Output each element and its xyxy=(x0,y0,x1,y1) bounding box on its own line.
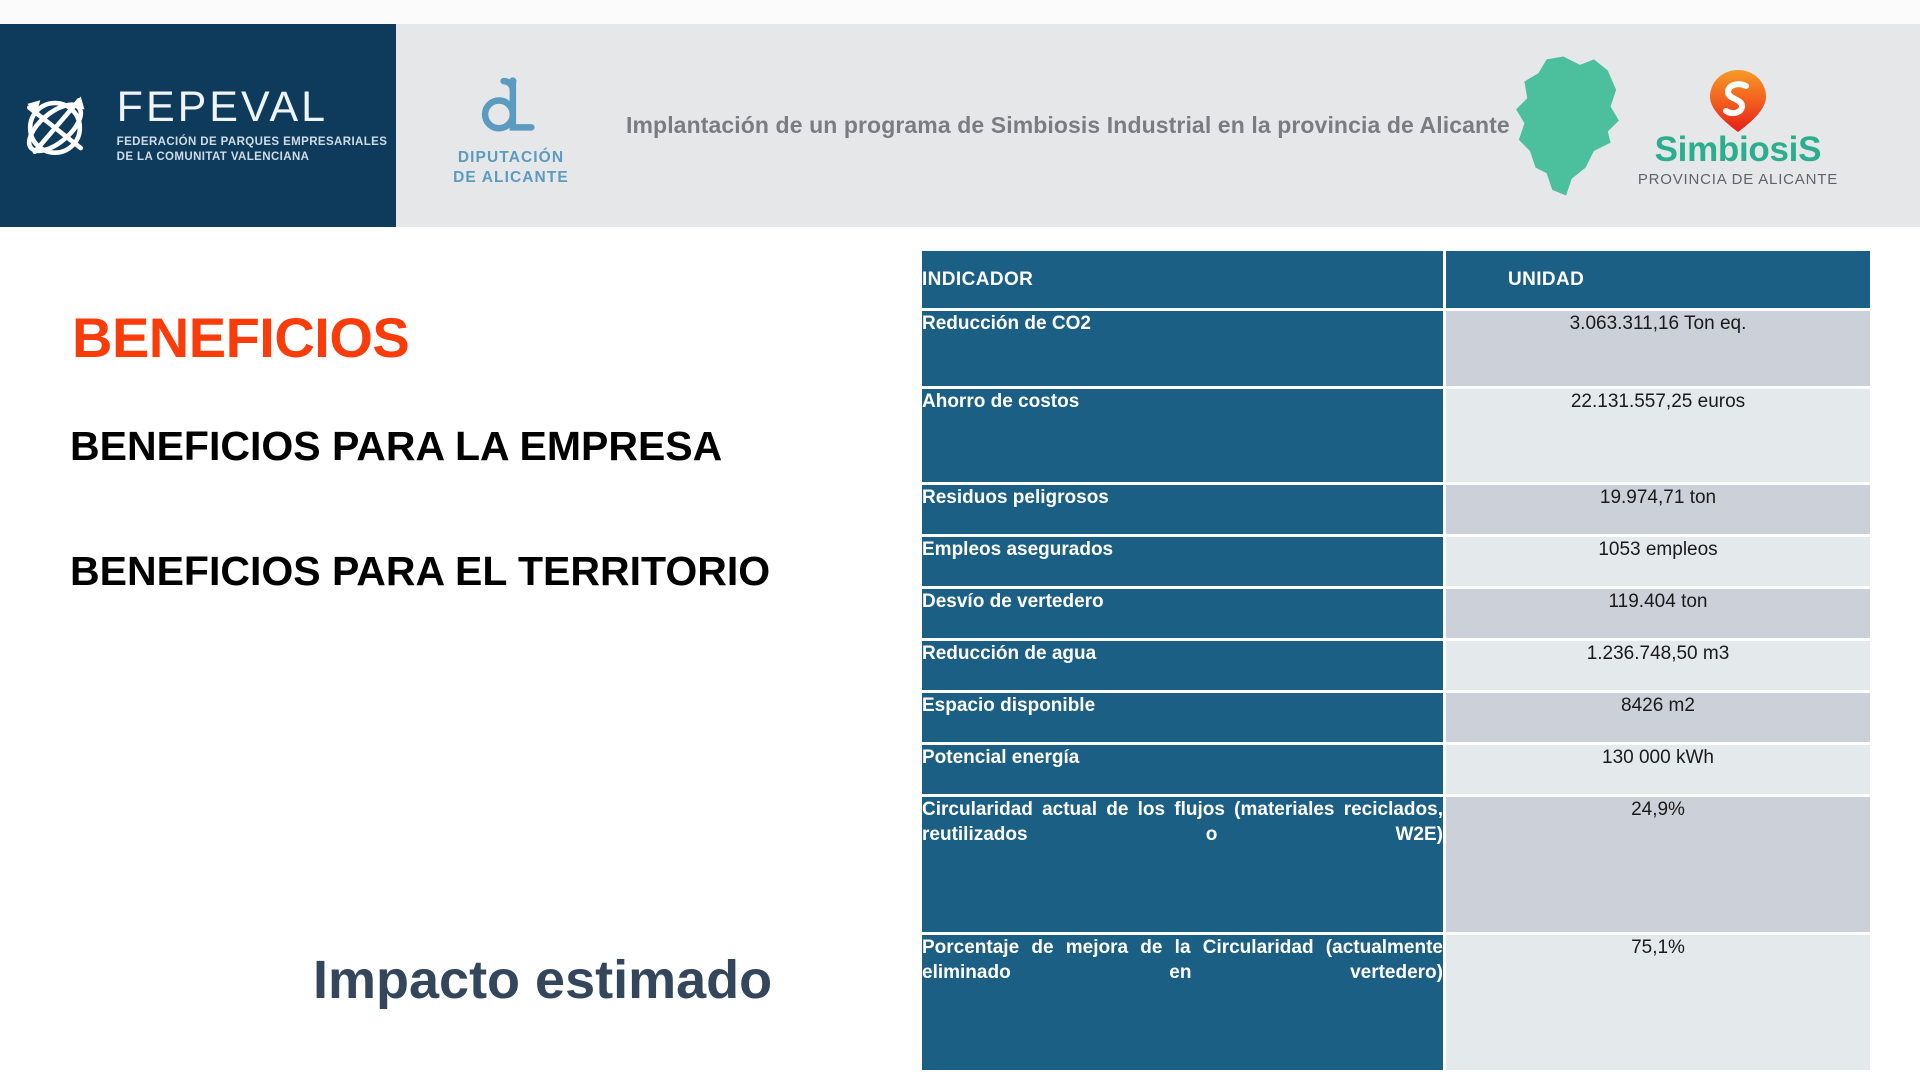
indicator-cell: Empleos asegurados xyxy=(922,537,1446,589)
location-pin-s-icon xyxy=(1707,68,1769,134)
indicator-cell: Reducción de CO2 xyxy=(922,311,1446,389)
table-row: Espacio disponible 8426 m2 xyxy=(922,693,1870,745)
table-header-row: INDICADOR UNIDAD xyxy=(922,251,1870,311)
simbiosis-logo-block: SimbiosiS PROVINCIA DE ALICANTE xyxy=(1510,24,1920,227)
top-white-strip xyxy=(0,0,1920,24)
indicator-cell: Desvío de vertedero xyxy=(922,589,1446,641)
value-cell: 1.236.748,50 m3 xyxy=(1446,641,1870,693)
indicator-cell: Espacio disponible xyxy=(922,693,1446,745)
orbit-arrows-icon xyxy=(9,80,101,172)
simbiosis-subtitle: PROVINCIA DE ALICANTE xyxy=(1638,171,1838,188)
alicante-province-map-icon xyxy=(1510,51,1650,201)
benefit-item-empresa: BENEFICIOS PARA LA EMPRESA xyxy=(70,426,722,467)
table-row: Reducción de CO2 3.063.311,16 Ton eq. xyxy=(922,311,1870,389)
fepeval-name: FEPEVAL xyxy=(117,86,388,129)
value-cell: 119.404 ton xyxy=(1446,589,1870,641)
benefit-item-territorio: BENEFICIOS PARA EL TERRITORIO xyxy=(70,551,770,592)
section-title-beneficios: BENEFICIOS xyxy=(72,310,409,366)
header-title: Implantación de un programa de Simbiosis… xyxy=(626,112,1510,139)
table-row: Ahorro de costos 22.131.557,25 euros xyxy=(922,389,1870,485)
presentation-header-band: FEPEVAL FEDERACIÓN DE PARQUES EMPRESARIA… xyxy=(0,24,1920,227)
diputacion-monogram-icon xyxy=(474,70,548,144)
value-cell: 8426 m2 xyxy=(1446,693,1870,745)
fepeval-subtitle: FEDERACIÓN DE PARQUES EMPRESARIALES DE L… xyxy=(117,135,388,165)
indicator-cell: Ahorro de costos xyxy=(922,389,1446,485)
table-row: Residuos peligrosos 19.974,71 ton xyxy=(922,485,1870,537)
diputacion-line1: DIPUTACIÓN xyxy=(458,148,564,167)
table-row: Potencial energía 130 000 kWh xyxy=(922,745,1870,797)
header-title-container: Implantación de un programa de Simbiosis… xyxy=(626,24,1510,227)
value-cell: 3.063.311,16 Ton eq. xyxy=(1446,311,1870,389)
value-cell: 130 000 kWh xyxy=(1446,745,1870,797)
column-header-indicador: INDICADOR xyxy=(922,251,1446,311)
indicator-cell: Porcentaje de mejora de la Circularidad … xyxy=(922,935,1446,1073)
column-header-unidad: UNIDAD xyxy=(1446,251,1870,311)
simbiosis-wordmark: SimbiosiS PROVINCIA DE ALICANTE xyxy=(1638,64,1838,188)
table-row: Desvío de vertedero 119.404 ton xyxy=(922,589,1870,641)
fepeval-logo-block: FEPEVAL FEDERACIÓN DE PARQUES EMPRESARIA… xyxy=(0,24,396,227)
diputacion-logo-block: DIPUTACIÓN DE ALICANTE xyxy=(396,24,626,227)
fepeval-wordmark: FEPEVAL FEDERACIÓN DE PARQUES EMPRESARIA… xyxy=(117,86,388,165)
value-cell: 22.131.557,25 euros xyxy=(1446,389,1870,485)
diputacion-line2: DE ALICANTE xyxy=(453,168,569,187)
fepeval-subtitle-line1: FEDERACIÓN DE PARQUES EMPRESARIALES xyxy=(117,136,388,148)
indicator-cell: Potencial energía xyxy=(922,745,1446,797)
value-cell: 1053 empleos xyxy=(1446,537,1870,589)
impact-heading: Impacto estimado xyxy=(313,953,772,1007)
table-row: Circularidad actual de los flujos (mater… xyxy=(922,797,1870,935)
value-cell: 19.974,71 ton xyxy=(1446,485,1870,537)
table-row: Reducción de agua 1.236.748,50 m3 xyxy=(922,641,1870,693)
value-cell: 75,1% xyxy=(1446,935,1870,1073)
table-row: Porcentaje de mejora de la Circularidad … xyxy=(922,935,1870,1073)
left-content-column: BENEFICIOS BENEFICIOS PARA LA EMPRESA BE… xyxy=(0,227,900,1080)
indicator-cell: Circularidad actual de los flujos (mater… xyxy=(922,797,1446,935)
indicator-cell: Residuos peligrosos xyxy=(922,485,1446,537)
indicator-cell: Reducción de agua xyxy=(922,641,1446,693)
table-row: Empleos asegurados 1053 empleos xyxy=(922,537,1870,589)
fepeval-subtitle-line2: DE LA COMUNITAT VALENCIANA xyxy=(117,151,310,163)
value-cell: 24,9% xyxy=(1446,797,1870,935)
simbiosis-name: SimbiosiS xyxy=(1655,132,1822,167)
impact-indicators-table: INDICADOR UNIDAD Reducción de CO2 3.063.… xyxy=(922,251,1870,1073)
